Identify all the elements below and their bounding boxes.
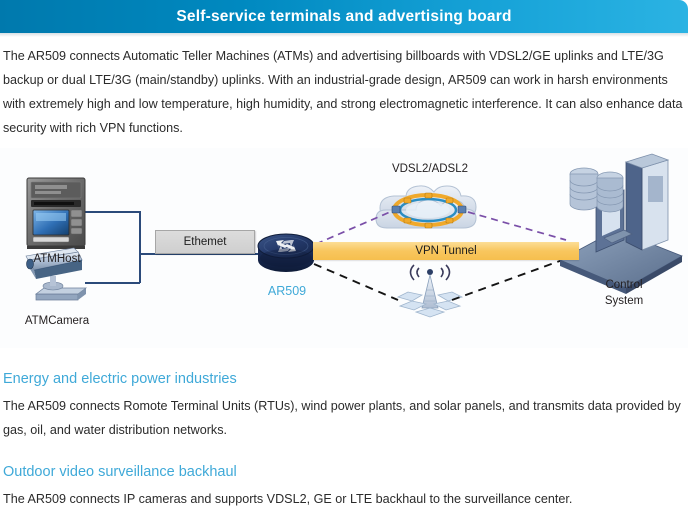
lte-dashed-links [314,258,568,300]
section-heading-energy: Energy and electric power industries [3,369,237,389]
label-ar509: AR509 [252,284,322,298]
atm-host-icon [27,178,85,249]
label-vdsl-cloud: VDSL2/ADSL2 [378,162,482,176]
label-atm-camera: ATMCamera [14,314,100,328]
label-control-system-line2: System [588,294,660,308]
vpn-tunnel-label: VPN Tunnel [415,245,476,257]
ethernet-label-text: Ethemet [184,236,227,248]
section-heading-video: Outdoor video surveillance backhaul [3,462,237,482]
cell-tower-icon [398,265,462,317]
control-system-icon [560,154,682,294]
vdsl-cloud-icon [376,186,476,228]
label-control-system-line1: Control [588,278,660,292]
banner-shadow [0,33,688,37]
section-paragraph-video: The AR509 connects IP cameras and suppor… [3,487,687,511]
page-banner: Self-service terminals and advertising b… [0,0,688,33]
vpn-tunnel-bar: VPN Tunnel [313,242,579,260]
ethernet-label-box: Ethemet [155,230,255,254]
intro-paragraph: The AR509 connects Automatic Teller Mach… [3,44,685,140]
section-paragraph-energy: The AR509 connects Romote Terminal Units… [3,394,687,442]
label-atm-host: ATMHost [22,252,92,266]
page-title: Self-service terminals and advertising b… [176,8,511,26]
ar509-router-icon [258,234,314,272]
